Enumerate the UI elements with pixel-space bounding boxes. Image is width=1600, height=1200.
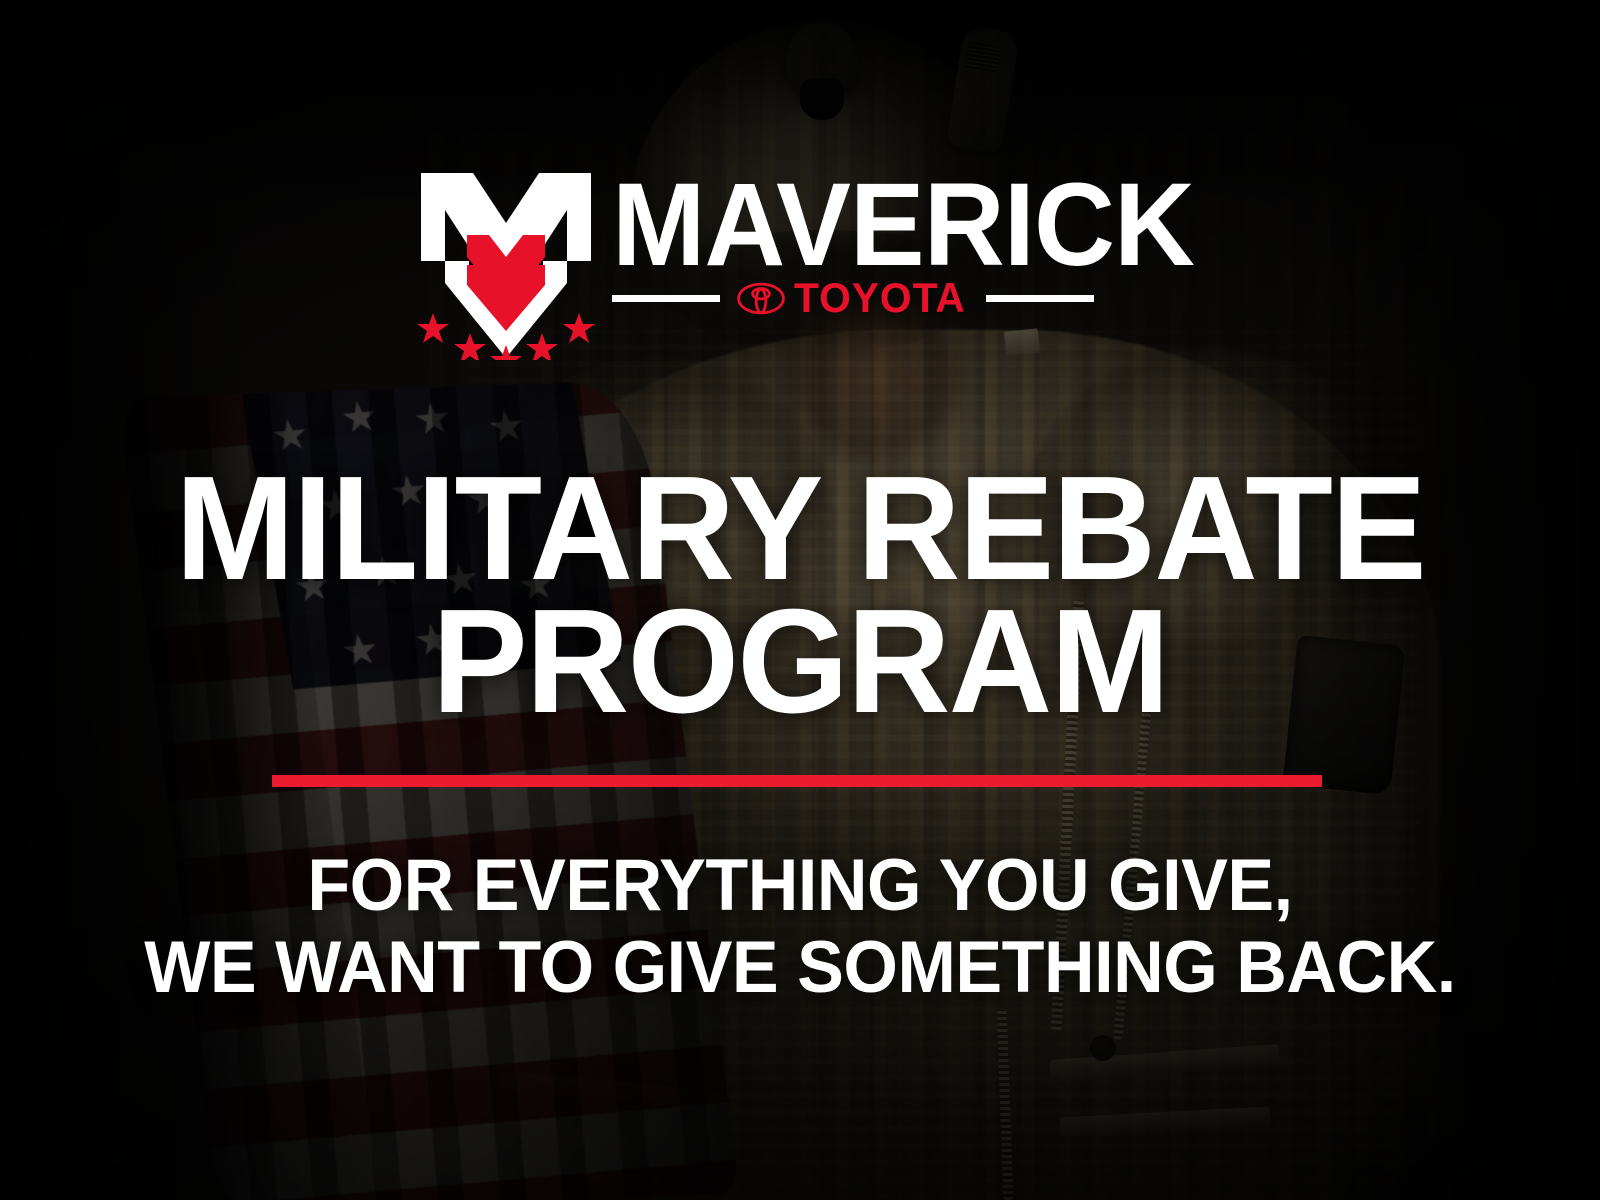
subheadline: FOR EVERYTHING YOU GIVE, WE WANT TO GIVE… — [0, 845, 1600, 1009]
maverick-wordmark: MAVERICK — [612, 174, 1194, 278]
promo-banner: MAVERICK TOYOTA MILITARY REBATE PROGRAM … — [0, 0, 1600, 1200]
brand-logo-lockup[interactable]: MAVERICK TOYOTA — [0, 160, 1600, 360]
red-divider-bar — [272, 775, 1322, 787]
banner-content: MAVERICK TOYOTA MILITARY REBATE PROGRAM … — [0, 0, 1600, 1200]
headline-line-1: MILITARY REBATE — [24, 462, 1576, 595]
page-title: MILITARY REBATE PROGRAM — [0, 462, 1600, 728]
subheadline-line-2: WE WANT TO GIVE SOMETHING BACK. — [32, 927, 1568, 1009]
toyota-lockup: TOYOTA — [612, 275, 1160, 321]
toyota-emblem-icon — [737, 282, 785, 315]
headline-line-2: PROGRAM — [24, 595, 1576, 728]
subheadline-line-1: FOR EVERYTHING YOU GIVE, — [32, 845, 1568, 927]
divider-rule-right — [986, 295, 1094, 302]
maverick-chevron-shield-emblem — [415, 165, 597, 360]
divider-rule-left — [612, 295, 720, 302]
toyota-wordmark: TOYOTA — [794, 274, 966, 322]
